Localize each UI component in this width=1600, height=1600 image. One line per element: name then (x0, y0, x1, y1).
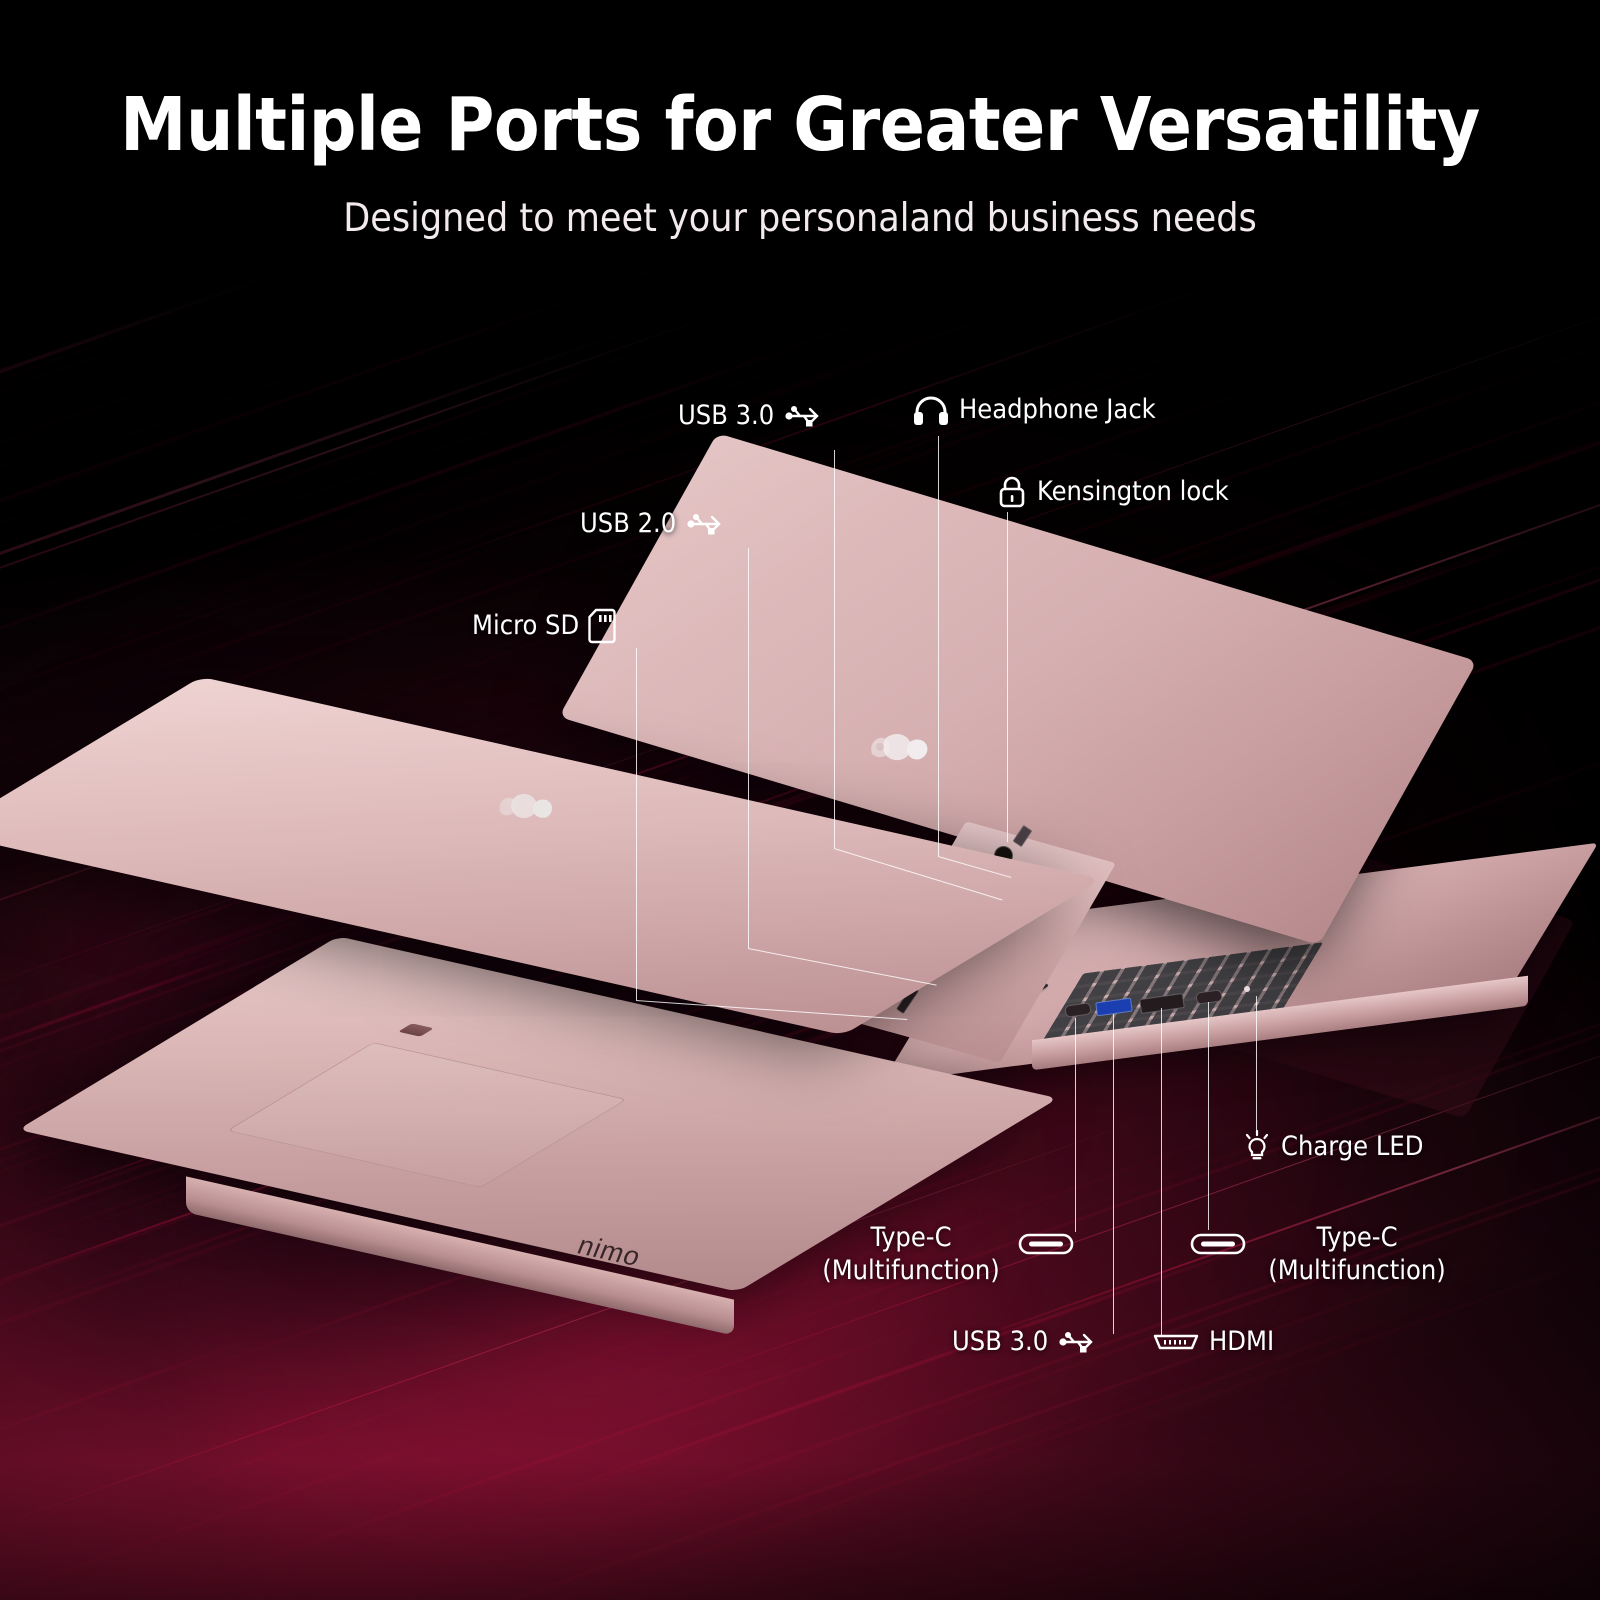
leader-line-kensington (1007, 512, 1008, 842)
leader-line-hdmi (1161, 1008, 1162, 1336)
callout-microsd-label: Micro SD (472, 610, 579, 643)
lightbulb-icon (1242, 1130, 1272, 1164)
callout-typec-left-line1: Type-C (806, 1222, 1016, 1255)
leader-line-charge-led (1256, 996, 1257, 1134)
page-subtitle: Designed to meet your personaland busine… (0, 196, 1600, 241)
lock-icon (996, 474, 1028, 510)
callout-usb20: USB 2.0 (580, 508, 727, 541)
usb-icon (1057, 1329, 1099, 1355)
callout-usb30-top-label: USB 3.0 (678, 400, 774, 433)
leader-line-headphone (938, 436, 939, 856)
leader-line-usb20 (748, 548, 749, 948)
nimo-swirl-logo-icon (862, 720, 946, 776)
usb-icon (685, 511, 727, 537)
callout-headphone: Headphone Jack (912, 394, 1156, 427)
callout-typec-right-line2: (Multifunction) (1252, 1255, 1462, 1288)
callout-usb30-bottom: USB 3.0 (952, 1326, 1099, 1359)
callout-usb30-top: USB 3.0 (678, 400, 825, 433)
page-title: Multiple Ports for Greater Versatility (0, 82, 1600, 168)
headphone-icon (912, 394, 950, 426)
callout-charge-led: Charge LED (1242, 1130, 1423, 1164)
leader-line-usb30-bottom (1113, 1014, 1114, 1334)
callout-typec-left-line2: (Multifunction) (806, 1255, 1016, 1288)
background-bottom-fade (0, 1460, 1600, 1600)
callout-usb20-label: USB 2.0 (580, 508, 676, 541)
usb-c-icon (1018, 1232, 1074, 1261)
callout-kensington: Kensington lock (996, 474, 1229, 510)
callout-headphone-label: Headphone Jack (959, 394, 1156, 427)
usb-c-icon (1190, 1232, 1246, 1261)
sd-card-icon (588, 608, 616, 644)
callout-hdmi: HDMI (1152, 1326, 1274, 1359)
callout-usb30-bottom-label: USB 3.0 (952, 1326, 1048, 1359)
callout-typec-left: Type-C (Multifunction) (806, 1222, 1016, 1288)
leader-line-typec-right (1208, 1002, 1209, 1230)
callout-kensington-label: Kensington lock (1037, 476, 1229, 509)
callout-microsd: Micro SD (472, 608, 616, 644)
nimo-swirl-logo-icon-front (492, 782, 572, 836)
usb-icon (783, 403, 825, 429)
callout-typec-right-line1: Type-C (1252, 1222, 1462, 1255)
leader-line-typec-left (1075, 1018, 1076, 1232)
product-marketing-banner: Multiple Ports for Greater Versatility D… (0, 0, 1600, 1600)
callout-typec-right: Type-C (Multifunction) (1252, 1222, 1462, 1288)
hdmi-icon (1152, 1330, 1200, 1354)
callout-hdmi-label: HDMI (1209, 1326, 1274, 1359)
leader-line-usb30-top (834, 450, 835, 848)
leader-line-microsd (636, 648, 637, 1000)
port-charge-led (1244, 986, 1250, 992)
callout-charge-led-label: Charge LED (1281, 1131, 1423, 1164)
